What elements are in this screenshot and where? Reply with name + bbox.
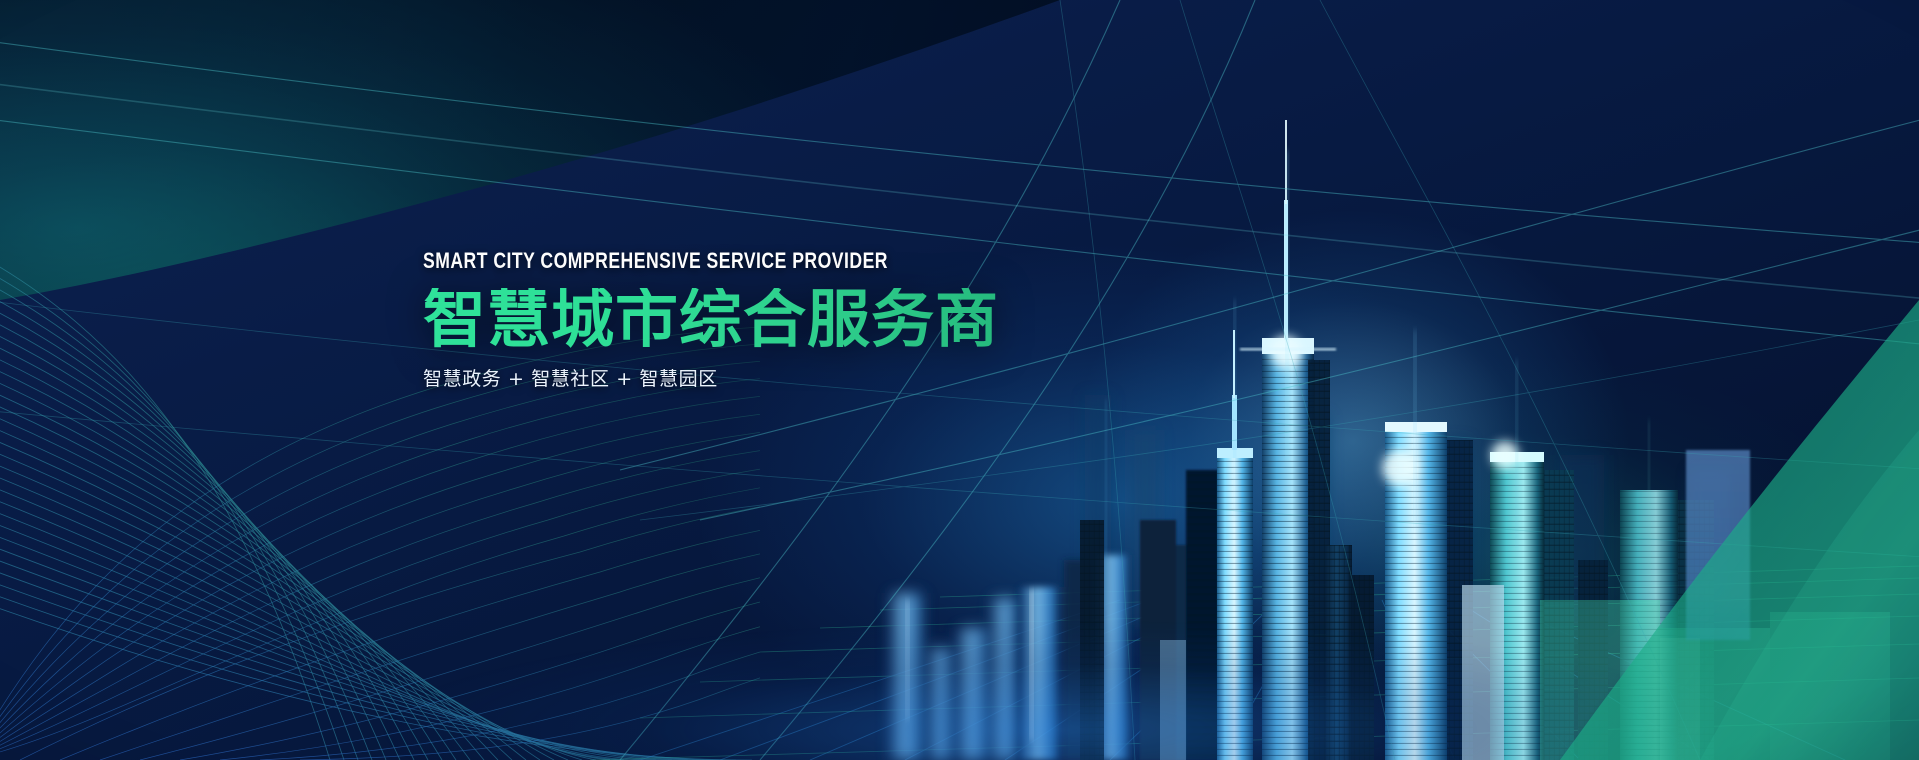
hero-headline: 智慧城市综合服务商: [423, 288, 1004, 352]
midground-dark-towers: [1140, 470, 1218, 760]
light-shafts: [1105, 150, 1650, 610]
right-edge-slab: [1686, 450, 1750, 640]
hero-eyebrow: SMART CITY COMPREHENSIVE SERVICE PROVIDE…: [423, 250, 888, 272]
bright-tower-cluster: [1160, 422, 1714, 760]
green-glass-blocks: [1540, 600, 1890, 760]
far-background-towers: [1085, 395, 1730, 625]
antenna-tower: [1217, 120, 1336, 760]
foreground-bar-buildings: [890, 555, 1130, 760]
hero-copy-block: SMART CITY COMPREHENSIVE SERVICE PROVIDE…: [423, 250, 1004, 389]
hero-banner: SMART CITY COMPREHENSIVE SERVICE PROVIDE…: [0, 0, 1919, 760]
hero-subline: 智慧政务 + 智慧社区 + 智慧园区: [423, 370, 1004, 389]
perspective-floor: [590, 566, 1919, 760]
dark-detail-towers: [1080, 520, 1608, 760]
